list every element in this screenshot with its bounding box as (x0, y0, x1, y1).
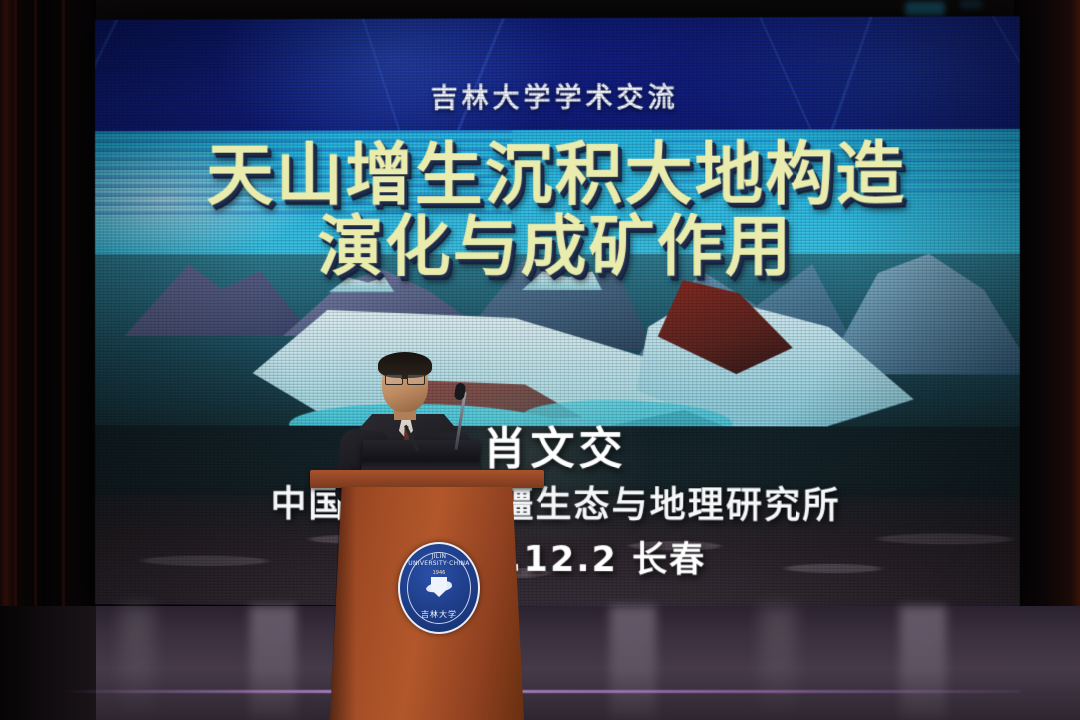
stage-cable (60, 690, 1020, 693)
slide-header-text: 吉林大学学术交流 (95, 74, 1020, 116)
led-presentation-screen: 吉林大学学术交流 (95, 16, 1020, 608)
slide-speaker-name: 肖文交 (95, 412, 1020, 478)
glasses-icon (385, 374, 425, 383)
podium-top (310, 470, 544, 488)
slide-title-line-1: 天山增生沉积大地构造 (95, 139, 1020, 213)
ceiling-light (905, 2, 945, 16)
slide-title-block: 天山增生沉积大地构造 演化与成矿作用 (95, 139, 1020, 282)
ceiling-light (960, 0, 982, 9)
seal-latin-text: JILIN UNIVERSITY·CHINA (400, 553, 478, 567)
seal-year: 1946 (400, 570, 478, 576)
jilin-university-seal-icon: JILIN UNIVERSITY·CHINA 1946 吉林大学 (398, 542, 480, 634)
slide-date-location: 2023.12.2 长春 (95, 530, 1020, 584)
stage-curtain-right (1014, 0, 1080, 620)
stage-curtain-left (0, 0, 96, 620)
lectern-podium: JILIN UNIVERSITY·CHINA 1946 吉林大学 (318, 470, 536, 720)
slide-title-line-2: 演化与成矿作用 (95, 211, 1020, 282)
podium-edge-shadow (330, 487, 356, 720)
seal-chinese-text: 吉林大学 (400, 609, 478, 620)
stage-floor (0, 606, 1080, 720)
slide-affiliation: 中国科学院新疆生态与地理研究所 (95, 475, 1020, 529)
stage-floor-shadow (0, 606, 96, 720)
presentation-laptop (361, 440, 481, 474)
lecture-hall-photo: 吉林大学学术交流 (0, 0, 1080, 720)
